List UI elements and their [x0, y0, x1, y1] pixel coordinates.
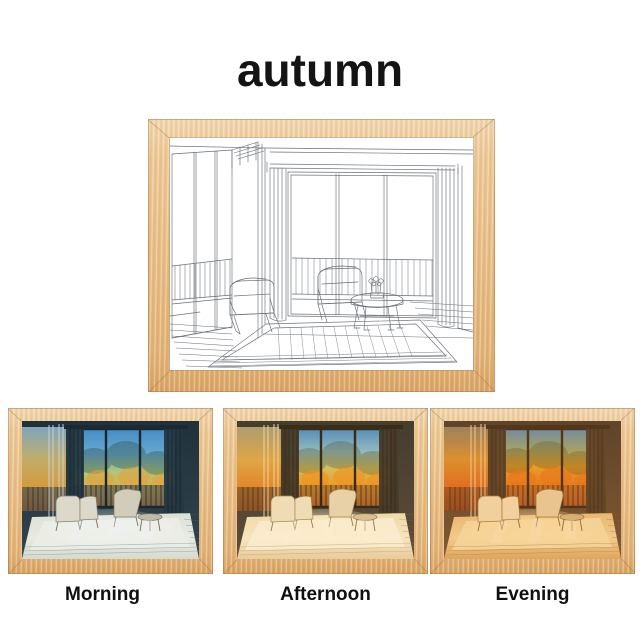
frame-mitre-bottom-right	[414, 559, 428, 574]
frame-mitre-top-left	[223, 408, 237, 421]
frame-mitre-top-left	[430, 408, 444, 421]
frame-mitre-top-right	[199, 408, 213, 421]
scene-afternoon	[237, 421, 414, 559]
variant-caption-afternoon: Afternoon	[223, 583, 428, 607]
frame-mitre-bottom-left	[430, 559, 444, 574]
variant-caption-evening: Evening	[430, 583, 635, 607]
variant-thumbnail-evening[interactable]	[430, 408, 635, 574]
variant-image-morning	[22, 421, 199, 559]
page-title: autumn	[0, 44, 640, 96]
frame-mitre-bottom-left	[223, 559, 237, 574]
scene-morning	[22, 421, 199, 559]
variant-thumbnail-afternoon[interactable]	[223, 408, 428, 574]
frame-mitre-bottom-right	[621, 559, 635, 574]
variant-thumbnail-morning[interactable]	[8, 408, 213, 574]
frame-mitre-bottom-left	[8, 559, 22, 574]
frame-mitre-bottom-right	[199, 559, 213, 574]
frame-mitre-top-right	[473, 119, 495, 138]
line-art-drawing	[170, 138, 473, 370]
frame-mitre-top-right	[621, 408, 635, 421]
frame-mitre-bottom-left	[148, 370, 170, 392]
frame-mitre-top-left	[148, 119, 170, 138]
variant-image-evening	[444, 421, 621, 559]
variant-image-afternoon	[237, 421, 414, 559]
variant-caption-morning: Morning	[0, 583, 205, 607]
frame-mitre-top-right	[414, 408, 428, 421]
frame-mitre-bottom-right	[473, 370, 495, 392]
frame-mitre-top-left	[8, 408, 22, 421]
main-artwork-frame[interactable]	[148, 119, 495, 392]
scene-evening	[444, 421, 621, 559]
main-artwork-image	[170, 138, 473, 370]
